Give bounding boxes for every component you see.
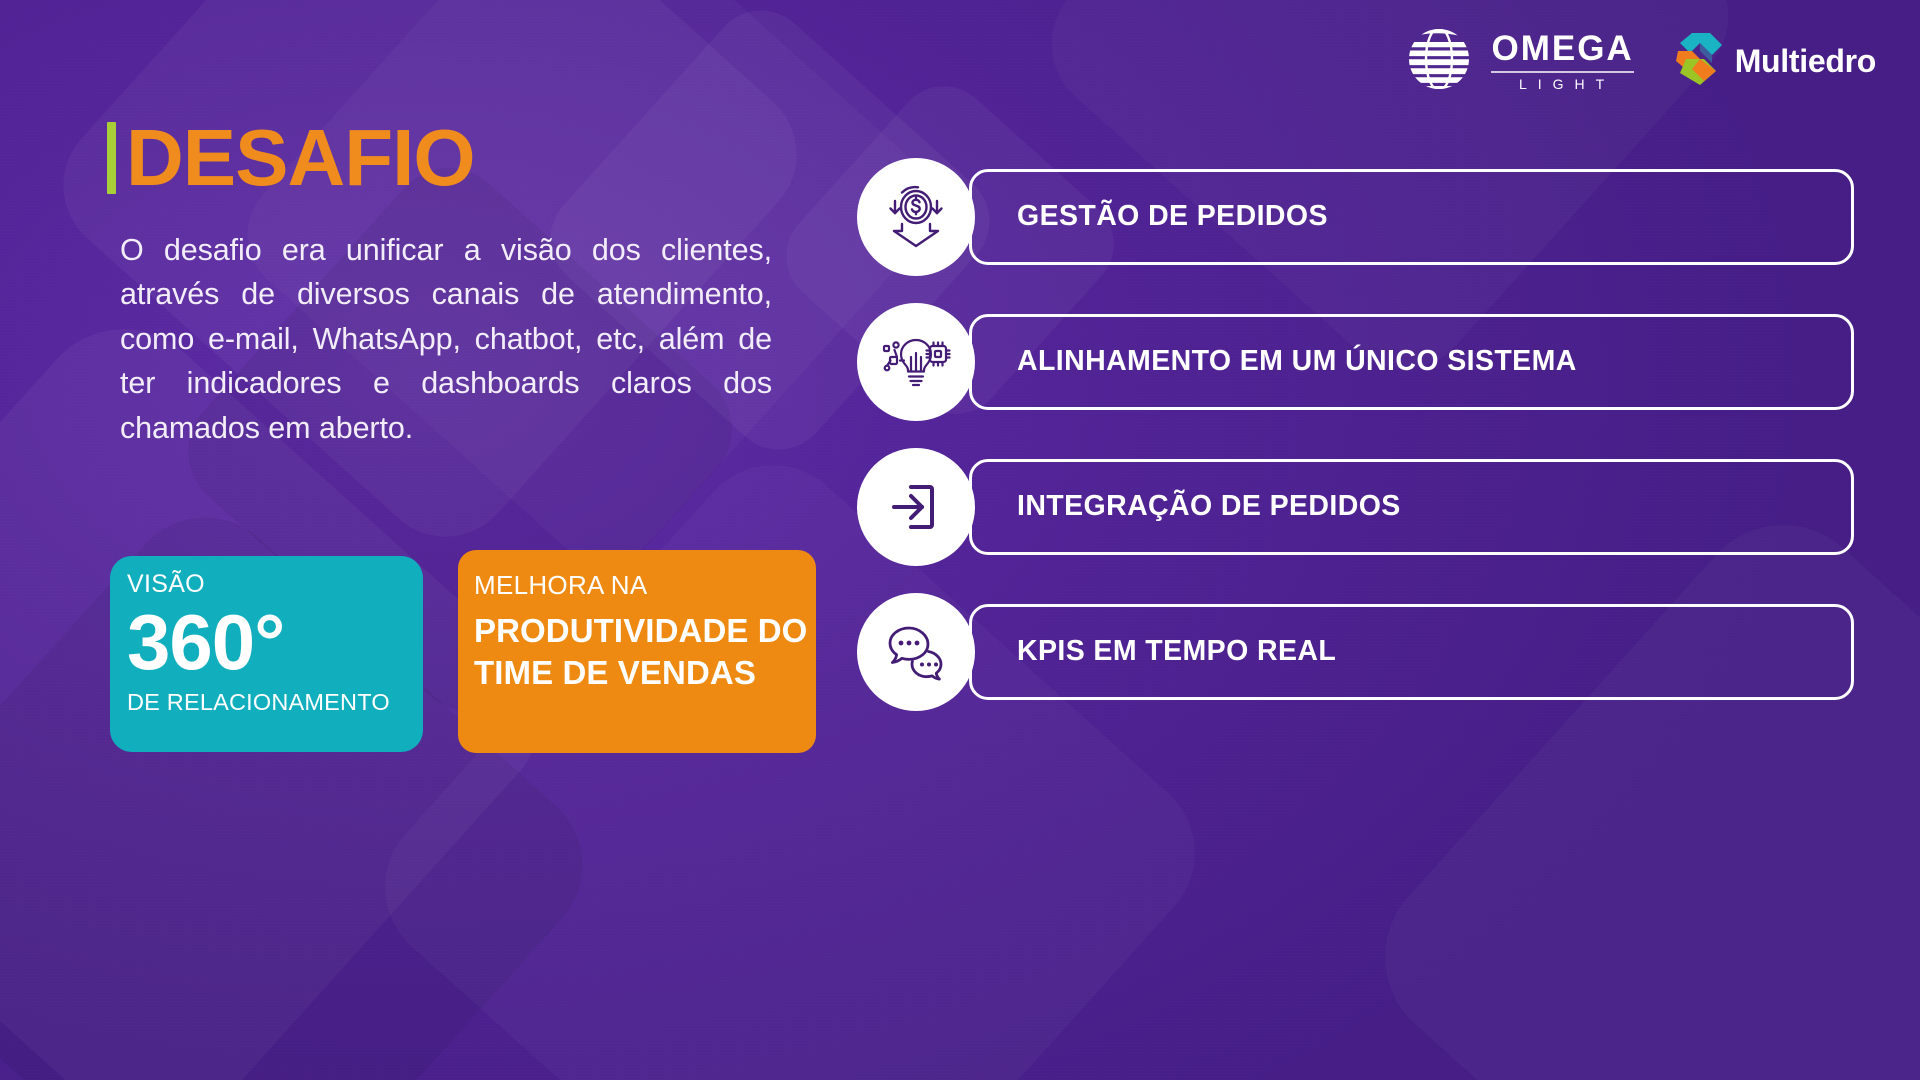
multiedro-polygon-icon <box>1670 29 1726 92</box>
feature-label: GESTÃO DE PEDIDOS <box>1017 199 1328 235</box>
feature-item-integracao[interactable]: INTEGRAÇÃO DE PEDIDOS <box>857 448 1897 566</box>
multiedro-name: Multiedro <box>1735 45 1876 77</box>
stat-card-vision: VISÃO 360° DE RELACIONAMENTO <box>110 556 423 752</box>
feature-item-kpis[interactable]: KPIS EM TEMPO REAL <box>857 593 1897 711</box>
feature-list: GESTÃO DE PEDIDOS ALINHAMENTO EM UM ÚNIC… <box>857 158 1897 738</box>
stat-value: PRODUTIVIDADE DO TIME DE VENDAS <box>474 610 816 693</box>
omega-name: OMEGA <box>1491 31 1633 66</box>
stat-value: 360° <box>127 603 423 681</box>
feature-label: INTEGRAÇÃO DE PEDIDOS <box>1017 489 1401 525</box>
feature-item-alinhamento[interactable]: ALINHAMENTO EM UM ÚNICO SISTEMA <box>857 303 1897 421</box>
chat-bubbles-icon <box>857 593 975 711</box>
omega-light-logo: OMEGA LIGHT <box>1403 22 1633 99</box>
stat-card-productivity: MELHORA NA PRODUTIVIDADE DO TIME DE VEND… <box>458 550 816 753</box>
omega-divider <box>1491 71 1633 73</box>
feature-label: ALINHAMENTO EM UM ÚNICO SISTEMA <box>1017 344 1577 380</box>
globe-sphere-icon <box>1403 22 1475 99</box>
feature-label: KPIS EM TEMPO REAL <box>1017 634 1336 670</box>
omega-subtitle: LIGHT <box>1491 77 1633 91</box>
feature-box: ALINHAMENTO EM UM ÚNICO SISTEMA <box>969 314 1854 410</box>
left-column: DESAFIO O desafio era unificar a visão d… <box>0 0 840 1080</box>
feature-box: KPIS EM TEMPO REAL <box>969 604 1854 700</box>
feature-box: INTEGRAÇÃO DE PEDIDOS <box>969 459 1854 555</box>
body-paragraph: O desafio era unificar a visão dos clien… <box>120 228 772 450</box>
page-title: DESAFIO <box>107 118 475 198</box>
ai-lightbulb-chip-icon <box>857 303 975 421</box>
feature-item-gestao-de-pedidos[interactable]: GESTÃO DE PEDIDOS <box>857 158 1897 276</box>
stat-top-label: MELHORA NA <box>474 572 816 598</box>
stat-top-label: VISÃO <box>127 572 423 597</box>
feature-box: GESTÃO DE PEDIDOS <box>969 169 1854 265</box>
multiedro-logo: Multiedro <box>1670 29 1876 92</box>
login-arrow-icon <box>857 448 975 566</box>
omega-wordmark: OMEGA LIGHT <box>1491 31 1633 91</box>
logo-bar: OMEGA LIGHT Multiedro <box>1403 22 1876 99</box>
title-accent-bar <box>107 122 116 194</box>
stat-bottom-label: DE RELACIONAMENTO <box>127 691 423 715</box>
money-coin-arrows-icon <box>857 158 975 276</box>
title-text: DESAFIO <box>126 118 475 198</box>
